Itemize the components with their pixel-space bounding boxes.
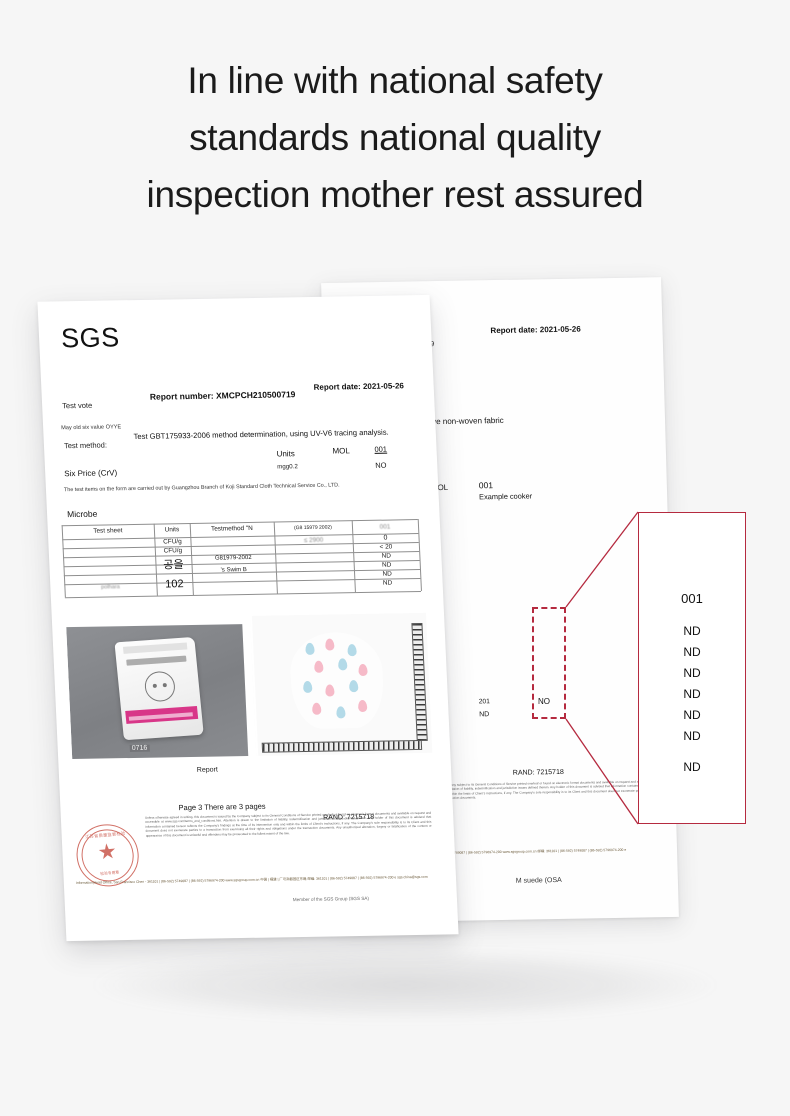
no-value: NO <box>375 461 387 470</box>
test-method-text: Test GBT175933-2006 method determination… <box>133 428 388 441</box>
mt-header-units: Units <box>154 526 190 534</box>
baby-face-icon <box>143 670 176 702</box>
mt-limit-1: ≤ 2900 <box>274 536 352 544</box>
front-page-footer: Page 3 There are 3 pages <box>178 802 265 813</box>
carried-out-note: The test items on the form are carried o… <box>64 482 340 493</box>
test-vote-label: Test vote <box>62 401 92 411</box>
callout-title: 001 <box>639 591 745 606</box>
headline-line-2: standards national quality <box>0 109 790 166</box>
mt-result-1: 0 <box>352 534 418 542</box>
back-rand-code: RAND: 7215718 <box>513 769 564 777</box>
back-sample-id: 001 <box>479 480 493 490</box>
fabric-item <box>289 632 385 730</box>
photo-fabric-sample <box>250 613 432 756</box>
callout-trailing-value: ND <box>639 757 745 778</box>
mt-result-2: < 20 <box>353 543 419 551</box>
callout-values: ND ND ND ND ND ND ND <box>639 621 745 778</box>
mol-label: MOL <box>332 446 350 455</box>
report-number: Report number: XMCPCH210500719 <box>150 389 296 402</box>
back-msuede-label: M suede (OSA <box>516 877 562 885</box>
selection-no-value: NO <box>538 697 550 706</box>
front-member-note: Member of the SGS Group (SGS SA) <box>293 896 369 902</box>
callout-value: ND <box>639 663 745 684</box>
mt-result-5: ND <box>354 570 420 578</box>
units-label: Units <box>276 449 295 458</box>
photo-a-label: 0716 <box>130 745 150 752</box>
back-report-date: Report date: 2021-05-26 <box>490 325 581 336</box>
callout-value: ND <box>639 621 745 642</box>
mt-korean-cell: 공을 <box>155 556 192 573</box>
product-package <box>114 637 203 740</box>
sample-id: 001 <box>374 445 387 454</box>
mt-result-6: ND <box>354 579 420 587</box>
ruler-vertical <box>411 623 427 741</box>
back-col-201: 201 <box>479 698 490 705</box>
callout-value: ND <box>639 642 745 663</box>
mt-units-2: CFU/g <box>155 547 191 555</box>
sample-photos: 0716 <box>64 613 433 767</box>
sgs-report-page-front: SGS Test vote Report number: XMCPCH21050… <box>37 295 458 941</box>
promo-page: In line with national safety standards n… <box>0 0 790 1116</box>
report-caption: Report <box>197 766 218 773</box>
sgs-logo: SGS <box>60 322 120 354</box>
callout-value: ND <box>639 726 745 747</box>
mgg-value: mgg0.2 <box>277 463 298 470</box>
six-price-label: Six Price (CrV) <box>64 468 117 478</box>
ruler-horizontal <box>262 740 422 753</box>
callout-value: ND <box>639 705 745 726</box>
photo-packaged-product: 0716 <box>64 624 248 759</box>
mt-units-1: CFU/g <box>154 538 190 546</box>
mt-result-3: ND <box>353 552 419 560</box>
mt-count-cell: 102 <box>156 578 193 591</box>
mt-header-result: 001 <box>352 523 418 531</box>
microbe-table: Test sheet Units Testmethod "N (G8 15979… <box>62 519 421 597</box>
mt-result-4: ND <box>354 561 420 569</box>
document-shadow <box>95 950 715 1020</box>
test-method-label: Test method: <box>64 441 107 451</box>
back-nd2: ND <box>479 711 489 718</box>
page-title: In line with national safety standards n… <box>0 52 790 223</box>
official-stamp: 江苏省质量监督检验 检验专用章 <box>73 822 142 889</box>
magnified-callout-panel: 001 ND ND ND ND ND ND ND <box>638 512 746 824</box>
microbe-section-label: Microbe <box>67 509 98 520</box>
mt-header-method: Testmethod "N <box>190 525 274 533</box>
front-legal-text: Unless otherwise agreed in writing, this… <box>145 811 432 838</box>
headline-line-1: In line with national safety <box>0 52 790 109</box>
headline-line-3: inspection mother rest assured <box>0 166 790 223</box>
callout-value: ND <box>639 684 745 705</box>
mayold-line: May old six value OYYE <box>61 424 121 431</box>
back-example-label: Example cooker <box>479 491 532 501</box>
report-date: Report date: 2021-05-26 <box>313 381 404 392</box>
